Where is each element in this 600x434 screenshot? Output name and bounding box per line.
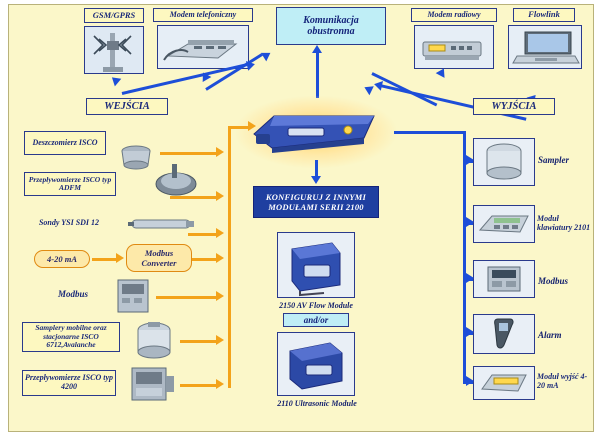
portable-sampler-photo bbox=[128, 318, 180, 362]
module-2110-caption: 2110 Ultrasonic Module bbox=[258, 399, 376, 408]
arrow-head-input-3 bbox=[216, 228, 224, 238]
arrow-head-output-2 bbox=[466, 217, 474, 227]
input-label-ysi: Sondy YSI SDI 12 bbox=[30, 210, 108, 236]
arrow-input-3 bbox=[188, 233, 218, 236]
arrow-input-2 bbox=[170, 196, 218, 199]
arrow-head-input-5 bbox=[216, 291, 224, 301]
arrow-head-up-komunikacja bbox=[312, 45, 322, 53]
output-module-photo bbox=[473, 366, 535, 400]
komunikacja-obustronna-box: Komunikacja obustronna bbox=[276, 7, 386, 45]
outputs-bus-line bbox=[463, 131, 466, 381]
input-label-samplery: Samplery mobilne oraz stacjonarne ISCO 6… bbox=[22, 322, 120, 352]
arrow-head-input-1 bbox=[216, 147, 224, 157]
arrow-device-to-config bbox=[315, 160, 318, 176]
outputs-header: WYJŚCIA bbox=[473, 98, 555, 115]
keypad-module-photo bbox=[473, 205, 535, 243]
output-label-alarm: Alarm bbox=[538, 330, 594, 340]
inputs-header: WEJŚCIA bbox=[86, 98, 168, 115]
andor-box: and/or bbox=[283, 313, 349, 327]
inputs-bus-head bbox=[248, 121, 256, 131]
antenna-mast-photo bbox=[84, 26, 144, 74]
arrow-head-output-1 bbox=[466, 155, 474, 165]
inputs-bus-to-device bbox=[228, 126, 250, 129]
arrow-input-5 bbox=[156, 296, 218, 299]
komunikacja-label: Komunikacja obustronna bbox=[280, 15, 382, 38]
output-label-keypad: Moduł klawiatury 2101 bbox=[537, 210, 595, 238]
arrow-head-input-6 bbox=[216, 335, 224, 345]
input-label-modbus: Modbus bbox=[40, 286, 106, 302]
top-label-gsmgprs: GSM/GPRS bbox=[84, 8, 144, 23]
input-pill-4-20ma: 4-20 mA bbox=[34, 250, 90, 268]
modbus-output-photo bbox=[473, 260, 535, 298]
sampler-photo bbox=[473, 138, 535, 186]
arrow-device-to-outputs bbox=[394, 131, 466, 134]
arrow-input-4b bbox=[192, 258, 218, 261]
arrow-head-output-5 bbox=[466, 376, 474, 386]
input-label-deszczomierz: Deszczomierz ISCO bbox=[24, 131, 106, 155]
arrow-input-6 bbox=[180, 340, 218, 343]
arrow-input-4a bbox=[92, 258, 118, 261]
inputs-bus-line bbox=[228, 126, 231, 386]
top-label-flowlink: Flowlink bbox=[513, 8, 575, 22]
input-label-adfm: Przepływomierze ISCO typ ADFM bbox=[24, 172, 116, 196]
arrow-input-7 bbox=[180, 384, 218, 387]
module-2110-photo bbox=[277, 332, 355, 396]
konfiguruj-label: KONFIGURUJ Z INNYMI MODUŁAMI SERII 2100 bbox=[258, 192, 374, 212]
arrow-head-input-2 bbox=[216, 191, 224, 201]
konfiguruj-box: KONFIGURUJ Z INNYMI MODUŁAMI SERII 2100 bbox=[253, 186, 379, 218]
arrow-input-1 bbox=[160, 152, 218, 155]
module-2150-photo bbox=[277, 232, 355, 298]
radio-modem-photo bbox=[414, 25, 494, 69]
top-label-modem-telefoniczny: Modem telefoniczny bbox=[153, 8, 253, 22]
input-label-4200: Przepływomierze ISCO typ 4200 bbox=[22, 370, 116, 396]
arrow-head-input-4a bbox=[116, 253, 124, 263]
modbus-device-photo bbox=[112, 276, 156, 316]
arrow-head-input-4b bbox=[216, 253, 224, 263]
telephone-modem-photo bbox=[157, 25, 249, 69]
arrow-head-input-7 bbox=[216, 379, 224, 389]
arrow-head-output-4 bbox=[466, 327, 474, 337]
laptop-photo bbox=[508, 25, 582, 69]
alarm-phone-photo bbox=[473, 314, 535, 354]
diagram-root: GSM/GPRS Modem telefoniczny Komunikacja … bbox=[0, 0, 600, 434]
input-pill-modbus-converter: Modbus Converter bbox=[126, 244, 192, 272]
inputs-bus-bottom bbox=[228, 384, 231, 388]
device-2100-photo bbox=[248, 104, 380, 156]
arrow-head-output-3 bbox=[466, 273, 474, 283]
top-label-modem-radiowy: Modem radiowy bbox=[411, 8, 497, 22]
module-2150-caption: 2150 AV Flow Module bbox=[262, 301, 370, 310]
arrow-head-config bbox=[311, 176, 321, 184]
output-label-sampler: Sampler bbox=[538, 155, 594, 165]
output-label-4-20ma: Moduł wyjść 4-20 mA bbox=[537, 368, 595, 396]
flowmeter-4200-photo bbox=[124, 362, 180, 406]
arrow-center-up bbox=[316, 52, 319, 98]
output-label-modbus: Modbus bbox=[538, 276, 594, 286]
